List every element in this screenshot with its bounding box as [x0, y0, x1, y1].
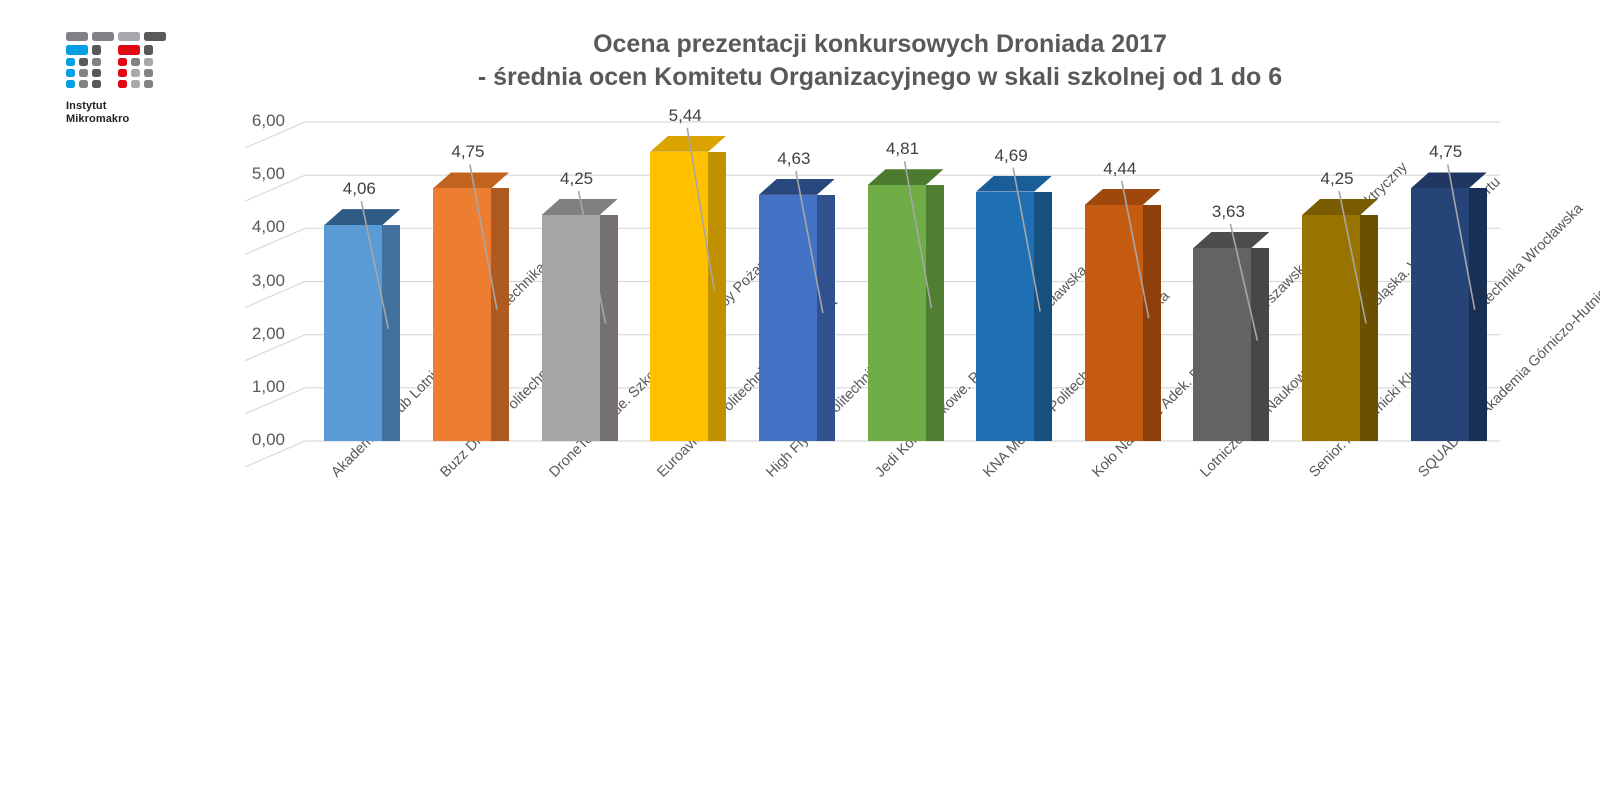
data-label-2: 4,75 — [426, 142, 510, 162]
data-label-9: 3,63 — [1186, 202, 1270, 222]
data-label-6: 4,81 — [861, 139, 945, 159]
data-label-1: 4,06 — [317, 179, 401, 199]
plot-area: 0,001,002,003,004,005,006,004,06Akademic… — [0, 0, 1600, 812]
data-label-10: 4,25 — [1295, 169, 1379, 189]
chart-canvas: Instytut Mikromakro Ocena prezentacji ko… — [0, 0, 1600, 812]
data-label-3: 4,25 — [535, 169, 619, 189]
data-label-11: 4,75 — [1404, 142, 1488, 162]
data-label-7: 4,69 — [969, 146, 1053, 166]
data-label-5: 4,63 — [752, 149, 836, 169]
data-label-8: 4,44 — [1078, 159, 1162, 179]
data-label-leader-lines — [0, 0, 1600, 812]
data-label-4: 5,44 — [643, 106, 727, 126]
